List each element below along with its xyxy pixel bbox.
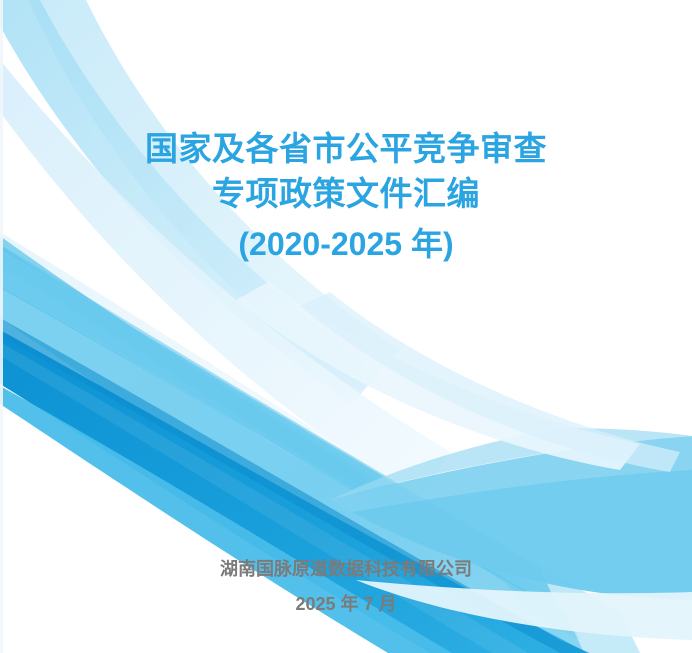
cover-footer-block: 湖南国脉原道数据科技有限公司 2025 年 7 月 bbox=[0, 552, 692, 622]
title-line-3-year-range: (2020-2025 年) bbox=[0, 216, 692, 267]
title-line-2: 专项政策文件汇编 bbox=[0, 171, 692, 216]
publication-date: 2025 年 7 月 bbox=[0, 586, 692, 622]
publisher-name: 湖南国脉原道数据科技有限公司 bbox=[0, 552, 692, 586]
document-cover-page: 国家及各省市公平竞争审查 专项政策文件汇编 (2020-2025 年) 湖南国脉… bbox=[0, 0, 692, 653]
title-line-1: 国家及各省市公平竞争审查 bbox=[0, 126, 692, 171]
cover-content: 国家及各省市公平竞争审查 专项政策文件汇编 (2020-2025 年) 湖南国脉… bbox=[0, 0, 692, 653]
cover-title-block: 国家及各省市公平竞争审查 专项政策文件汇编 (2020-2025 年) bbox=[0, 126, 692, 267]
